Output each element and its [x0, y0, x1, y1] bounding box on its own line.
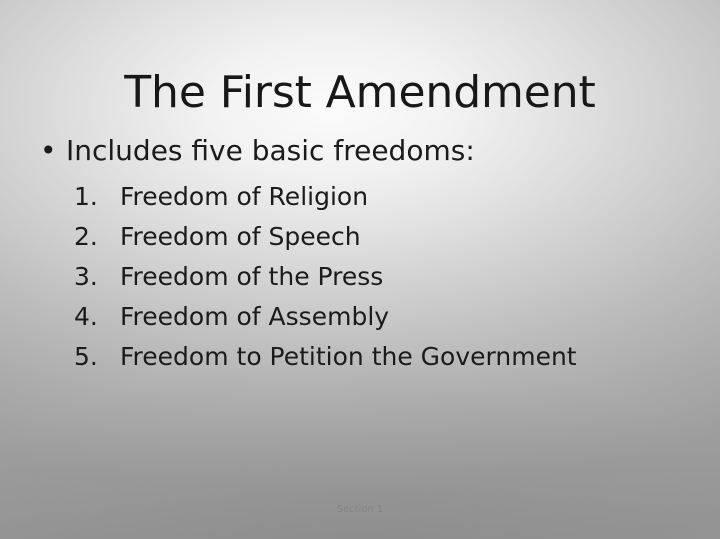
- slide-footer: Section 1: [0, 503, 720, 517]
- list-item: 1. Freedom of Religion: [0, 177, 720, 217]
- list-item: 5. Freedom to Petition the Government: [0, 337, 720, 377]
- list-item-number: 5.: [74, 337, 114, 377]
- bullet-list-item: • Includes five basic freedoms:: [0, 133, 720, 169]
- list-item: 3. Freedom of the Press: [0, 257, 720, 297]
- bullet-dot-icon: •: [40, 133, 57, 169]
- page-title: The First Amendment: [0, 69, 720, 117]
- list-item-number: 3.: [74, 257, 114, 297]
- list-item: 2. Freedom of Speech: [0, 217, 720, 257]
- list-item-number: 4.: [74, 297, 114, 337]
- slide-body: • Includes five basic freedoms: 1. Freed…: [0, 133, 720, 377]
- list-item-label: Freedom of the Press: [120, 262, 383, 291]
- list-item-label: Freedom to Petition the Government: [120, 342, 577, 371]
- bullet-list-item-label: Includes five basic freedoms:: [66, 134, 475, 167]
- freedoms-numbered-list: 1. Freedom of Religion 2. Freedom of Spe…: [0, 177, 720, 377]
- list-item-label: Freedom of Assembly: [120, 302, 389, 331]
- list-item-number: 1.: [74, 177, 114, 217]
- list-item-label: Freedom of Speech: [120, 222, 361, 251]
- list-item-label: Freedom of Religion: [120, 182, 368, 211]
- list-item-number: 2.: [74, 217, 114, 257]
- presentation-slide: The First Amendment • Includes five basi…: [0, 0, 720, 539]
- list-item: 4. Freedom of Assembly: [0, 297, 720, 337]
